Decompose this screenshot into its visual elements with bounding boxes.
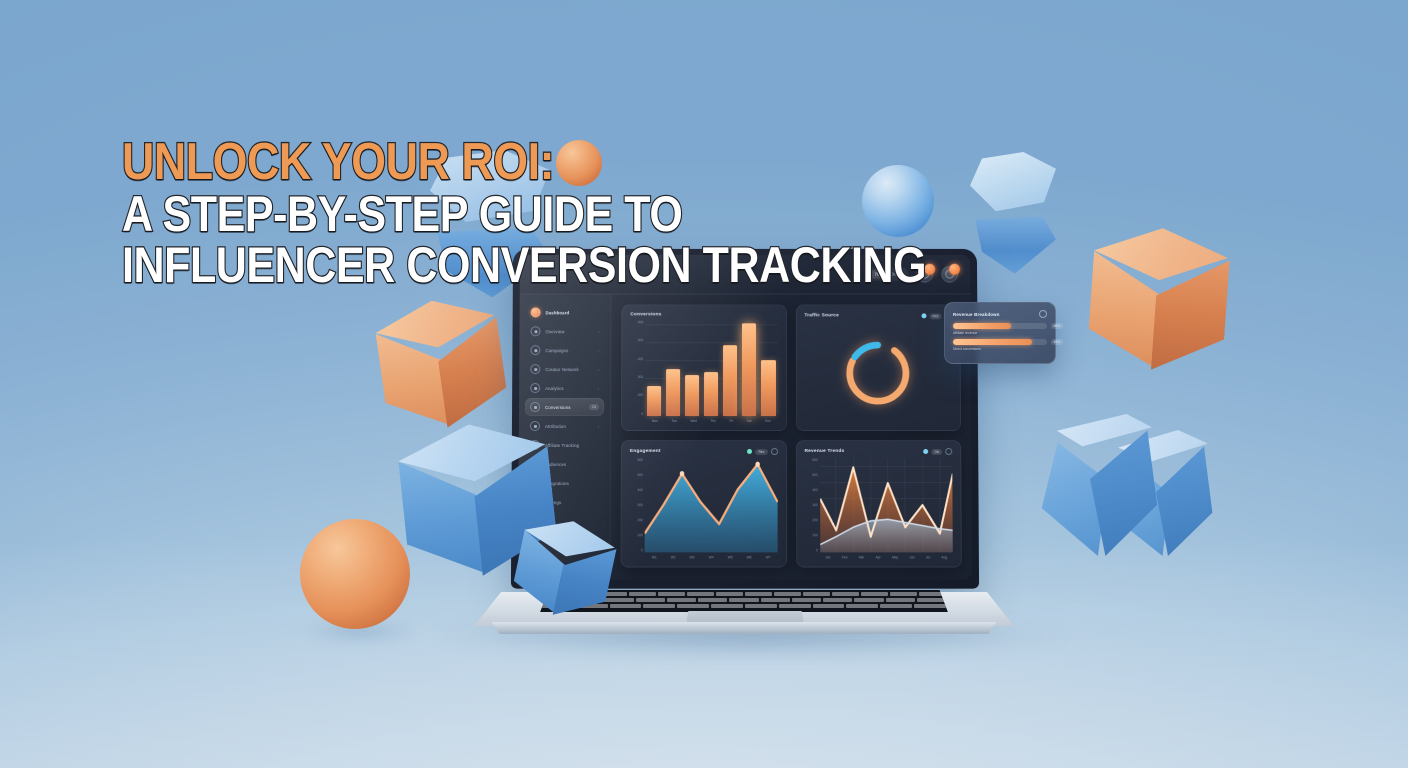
card-title: Conversions: [630, 312, 661, 317]
card-title: Revenue Trends: [805, 449, 845, 454]
progress-label: Direct conversions: [953, 347, 1047, 351]
sidebar-item-analytics[interactable]: Analytics ›: [525, 379, 604, 397]
plot-area: Jan Feb Mar Apr May Jun Jul Aug: [820, 458, 953, 560]
progress-value: 68%: [1051, 323, 1063, 329]
card-header: Revenue Trends Clk: [805, 448, 953, 455]
plot-area: Mon Tue Wed Thu Fri Sat Sun: [645, 320, 778, 424]
sidebar-item-campaigns[interactable]: Campaigns ›: [525, 341, 604, 359]
y-tick: 100: [812, 534, 817, 537]
data-point: [680, 471, 685, 476]
sidebar-item-overview[interactable]: Overview ›: [525, 322, 604, 340]
headline-line-3: INFLUENCER CONVERSION TRACKING: [122, 242, 724, 289]
sphere-orange-large: [300, 519, 410, 629]
bar: [685, 375, 699, 416]
megaphone-icon: [530, 345, 540, 355]
x-axis: Mon Tue Wed Thu Fri Sat Sun: [645, 417, 778, 424]
cube-orange-large: [1084, 224, 1229, 399]
progress-value: 84%: [1051, 339, 1063, 345]
progress-track: 68%: [953, 323, 1047, 329]
legend-label: Clk: [931, 449, 942, 455]
bar: [666, 369, 680, 416]
x-tick: Jul: [926, 555, 930, 559]
refresh-icon[interactable]: [1039, 310, 1047, 318]
panel-row: 68% Affiliate revenue: [953, 323, 1047, 335]
dual-area-svg: [820, 458, 953, 552]
x-axis: W1 W2 W3 W4 W5 W6 W7: [645, 553, 778, 560]
data-point: [755, 462, 760, 467]
progress-fill: [953, 323, 1011, 329]
progress-fill: [953, 339, 1032, 345]
x-tick: Jan: [825, 555, 830, 559]
y-tick: 500: [638, 340, 643, 343]
users-icon: [530, 364, 540, 374]
bar-series: [647, 322, 775, 416]
x-tick: Mon: [652, 418, 658, 422]
y-tick: 600: [638, 459, 643, 462]
sidebar-brand[interactable]: Dashboard: [526, 303, 605, 321]
more-options-icon[interactable]: [771, 448, 778, 455]
revenue-breakdown-panel: Revenue Breakdown 68% Affiliate revenue …: [944, 302, 1056, 364]
sphere-blue: [862, 165, 934, 237]
x-axis: Jan Feb Mar Apr May Jun Jul Aug: [820, 553, 953, 560]
grid-icon: [530, 326, 540, 336]
x-tick: Sat: [747, 418, 752, 422]
sidebar-item-label: Analytics: [545, 386, 593, 391]
area-fill: [645, 464, 778, 552]
sidebar-item-label: Audiences: [545, 462, 599, 467]
bar: [761, 360, 775, 416]
x-tick: Sun: [765, 418, 771, 422]
sidebar-item-label: Attribution: [545, 423, 593, 428]
card-title: Engagement: [630, 449, 661, 454]
bar: [647, 386, 661, 416]
y-tick: 200: [812, 519, 817, 522]
headline-line-1: UNLOCK YOUR ROI:: [122, 138, 724, 187]
chart-icon: [530, 383, 540, 393]
card-legend[interactable]: Clk: [923, 448, 952, 455]
card-revenue-trends: Revenue Trends Clk 600: [796, 440, 962, 568]
bar-chart: 600 500 400 300 200 0: [630, 320, 778, 424]
x-tick: W6: [747, 555, 752, 559]
legend-dot: [921, 313, 926, 318]
y-tick: 200: [638, 394, 643, 397]
area-svg: [645, 458, 778, 552]
sidebar-item-conversions[interactable]: Conversions 24: [525, 398, 604, 416]
y-axis: 600 500 400 300 200 100 0: [805, 458, 820, 560]
y-tick: 300: [637, 504, 642, 507]
sidebar-item-label: Creator Network: [545, 367, 593, 372]
sidebar-item-creator-network[interactable]: Creator Network ›: [525, 360, 604, 378]
app-logo-icon: [531, 307, 541, 317]
x-tick: W1: [652, 555, 657, 559]
x-tick: Tue: [671, 418, 676, 422]
gem-translucent-top-right: [970, 152, 1056, 256]
progress-label: Affiliate revenue: [953, 331, 1047, 335]
card-traffic-source: Traffic Source ROI: [795, 304, 961, 431]
sidebar-brand-label: Dashboard: [546, 310, 600, 315]
y-axis: 600 500 400 300 200 0: [630, 320, 645, 424]
x-tick: Jun: [909, 555, 914, 559]
x-tick: Thu: [710, 418, 716, 422]
x-tick: W4: [709, 555, 714, 559]
x-tick: May: [892, 555, 898, 559]
y-tick: 0: [641, 549, 643, 552]
progress-track: 84%: [953, 339, 1047, 345]
card-conversions: Conversions 600 500 400 300 200: [621, 304, 787, 431]
card-engagement: Engagement Rev 600: [620, 440, 786, 568]
more-options-icon[interactable]: [945, 448, 952, 455]
card-legend[interactable]: Rev: [747, 448, 777, 455]
card-header: Engagement Rev: [630, 448, 778, 455]
card-title: Traffic Source: [804, 313, 839, 318]
headline-line-2: A STEP-BY-STEP GUIDE TO: [122, 191, 724, 238]
legend-label: ROI: [929, 313, 941, 319]
donut-svg: [841, 336, 915, 410]
y-tick: 0: [641, 413, 643, 416]
panel-row: 84% Direct conversions: [953, 339, 1047, 351]
x-tick: Apr: [876, 555, 881, 559]
y-tick: 600: [638, 321, 643, 324]
x-tick: W3: [690, 555, 695, 559]
x-tick: Aug: [941, 555, 947, 559]
card-header: Traffic Source ROI: [804, 312, 951, 319]
sidebar-item-badge: 24: [589, 404, 599, 410]
y-tick: 400: [638, 358, 643, 361]
x-tick: W7: [766, 555, 771, 559]
y-tick: 300: [812, 504, 817, 507]
user-avatar-2[interactable]: [941, 266, 958, 283]
y-tick: 500: [637, 474, 642, 477]
x-tick: Wed: [690, 418, 697, 422]
bar: [704, 372, 718, 416]
bar: [742, 323, 756, 416]
y-tick: 500: [812, 474, 817, 477]
bar: [723, 345, 737, 416]
legend-dot: [923, 449, 928, 454]
target-icon: [530, 402, 540, 412]
headline-block: UNLOCK YOUR ROI: A STEP-BY-STEP GUIDE TO…: [122, 138, 822, 289]
sidebar-item-label: Overview: [545, 329, 593, 334]
x-tick: Mar: [859, 555, 865, 559]
chevron-right-icon: ›: [598, 348, 599, 353]
y-tick: 600: [812, 459, 817, 462]
donut: [841, 336, 915, 410]
donut-chart: [804, 322, 952, 424]
panel-title: Revenue Breakdown: [953, 312, 1000, 317]
card-header: Conversions: [630, 312, 777, 317]
y-tick: 0: [816, 549, 818, 552]
area-chart: 600 500 400 300 200 100 0: [630, 458, 778, 560]
x-tick: W5: [728, 555, 733, 559]
sidebar-item-label: Campaigns: [545, 348, 593, 353]
x-tick: Fri: [729, 418, 733, 422]
dashboard-content: Conversions 600 500 400 300 200: [610, 295, 972, 580]
legend-label: Rev: [755, 449, 767, 455]
panel-header: Revenue Breakdown: [953, 310, 1047, 318]
sidebar-item-label: Affiliate Tracking: [545, 442, 599, 447]
y-tick: 400: [637, 489, 642, 492]
dual-area-chart: 600 500 400 300 200 100 0: [805, 458, 953, 560]
sidebar-item-label: Conversions: [545, 405, 584, 410]
x-tick: W2: [671, 555, 676, 559]
sidebar-item-label: Integrations: [545, 481, 599, 486]
legend-dot: [747, 449, 752, 454]
chevron-right-icon: ›: [598, 329, 599, 334]
y-tick: 400: [812, 489, 817, 492]
y-tick: 100: [637, 534, 642, 537]
hero-banner: 7D 30D: [0, 0, 1408, 768]
chevron-right-icon: ›: [598, 386, 599, 391]
chevron-right-icon: ›: [598, 367, 599, 372]
y-axis: 600 500 400 300 200 100 0: [630, 458, 645, 560]
chevron-right-icon: ›: [598, 423, 599, 428]
prism-blue-right: [1030, 412, 1158, 572]
notification-badge-icon: [949, 264, 960, 275]
y-tick: 200: [637, 519, 642, 522]
y-tick: 300: [638, 376, 643, 379]
plot-area: W1 W2 W3 W4 W5 W6 W7: [645, 458, 778, 560]
x-tick: Feb: [842, 555, 848, 559]
